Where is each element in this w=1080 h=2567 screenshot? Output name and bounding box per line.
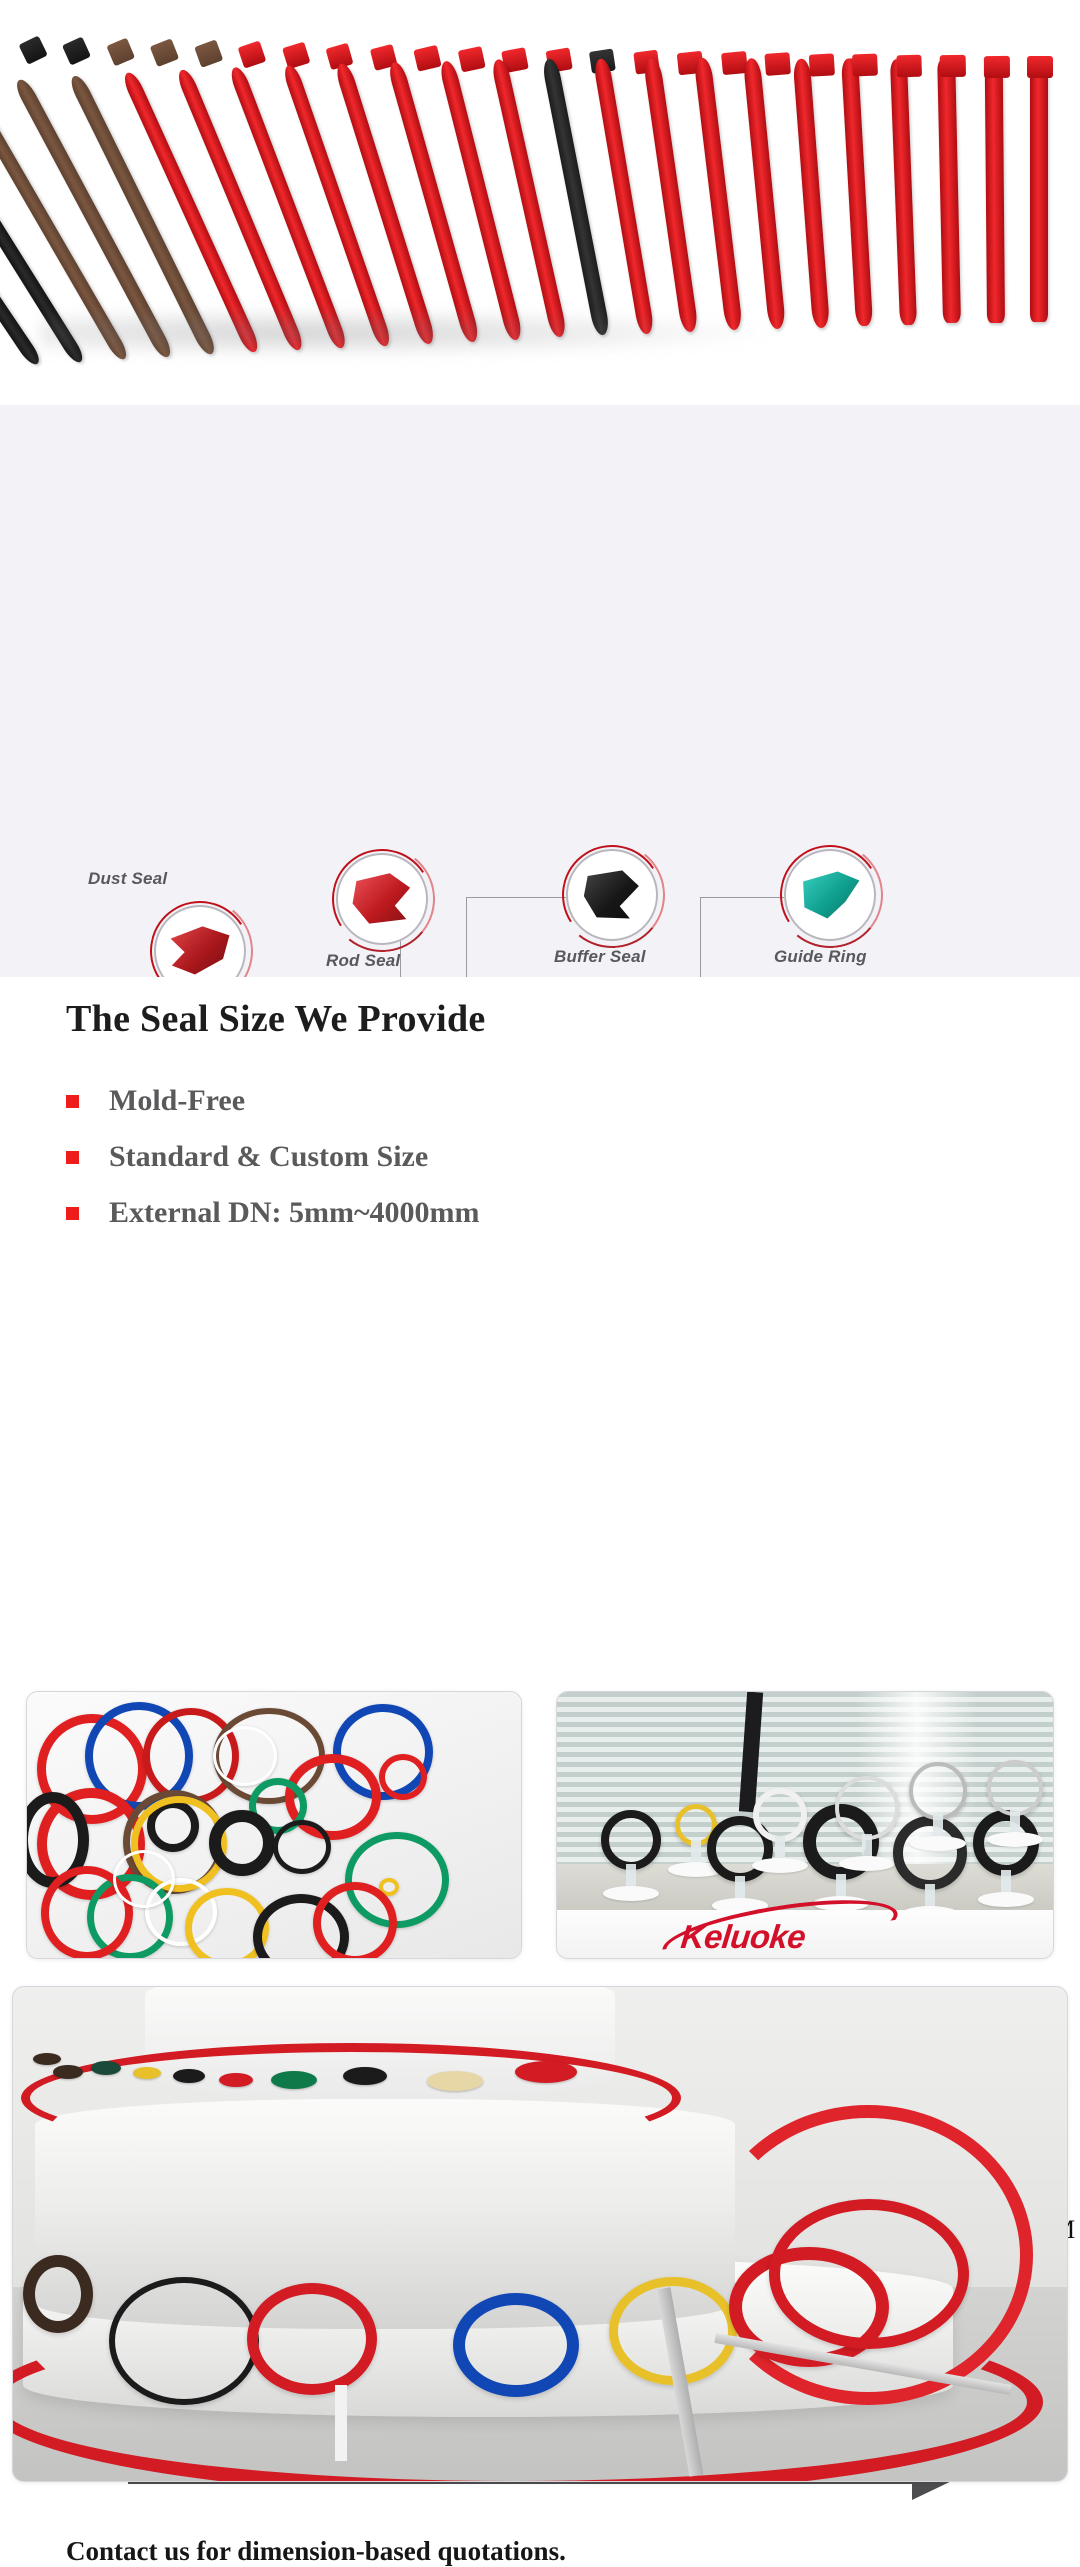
seal-ring-small <box>133 2067 161 2079</box>
feature-bullet-list: Mold-Free Standard & Custom Size Externa… <box>66 1073 586 1241</box>
seal-ring-small <box>91 2061 121 2075</box>
callout-label-buffer-seal: Buffer Seal <box>554 947 646 967</box>
seal-ring <box>769 2199 969 2349</box>
seal-profile-lip <box>457 46 485 72</box>
bullet-square-icon <box>66 1151 79 1164</box>
leader-line <box>466 897 467 977</box>
hydraulic-cylinder-cutaway: Dust Seal Rod Seal Buffer Seal Guide Rin… <box>0 405 1080 977</box>
seal-profile-lip <box>765 52 792 76</box>
seal-ring <box>109 2277 259 2405</box>
seal-profile-lip <box>721 51 748 75</box>
seal-profile <box>0 91 43 367</box>
callout-label-guide-ring: Guide Ring <box>774 947 867 967</box>
callout-dust-seal[interactable]: Dust Seal <box>154 905 246 977</box>
seal-profile <box>334 62 437 346</box>
seal-ring-display <box>893 1816 967 1890</box>
seal-profile-lip <box>1027 56 1053 78</box>
callout-rod-seal[interactable]: Rod Seal <box>336 853 428 945</box>
seal-profile-lip <box>896 54 922 77</box>
callout-buffer-seal[interactable]: Buffer Seal <box>566 849 658 941</box>
seal-ring-small <box>343 2067 387 2085</box>
oring <box>313 1882 397 1959</box>
seal-profile <box>281 63 393 347</box>
seal-profile <box>889 59 917 325</box>
list-item: External DN: 5mm~4000mm <box>66 1185 586 1241</box>
seal-profile <box>386 60 480 343</box>
seal-profile-lip <box>808 53 834 76</box>
seal-profile <box>792 58 829 328</box>
seal-profile <box>841 58 873 326</box>
oring <box>209 1810 275 1876</box>
seal-profile-lip <box>414 45 442 72</box>
bullet-text: Mold-Free <box>109 1084 245 1118</box>
oring <box>273 1820 331 1874</box>
bullet-text: Standard & Custom Size <box>109 1140 428 1174</box>
seal-profile <box>937 59 960 323</box>
brand-logo: Keluoke <box>679 1918 807 1956</box>
seal-ring-small <box>173 2069 205 2083</box>
seal-profile-lip <box>852 54 878 77</box>
callout-guide-ring[interactable]: Guide Ring <box>784 849 876 941</box>
seal-profile-lip <box>194 40 223 68</box>
page-title: The Seal Size We Provide <box>66 997 486 1041</box>
seal-ring-small <box>53 2065 83 2079</box>
stand-base <box>839 1856 895 1871</box>
callout-label-dust-seal: Dust Seal <box>88 869 167 889</box>
leader-line <box>700 897 701 977</box>
seal-ring <box>247 2283 377 2395</box>
large-red-seal-ring <box>21 2043 681 2153</box>
factory-display-stand-photo[interactable] <box>12 1986 1068 2482</box>
callout-arc <box>554 837 670 953</box>
oring <box>379 1754 427 1800</box>
seal-ring <box>453 2293 579 2397</box>
seal-ring-display <box>753 1788 807 1842</box>
seal-profile <box>984 60 1004 323</box>
seal-profile-lip <box>238 41 267 69</box>
callout-arc <box>324 841 440 957</box>
showroom-display-photo[interactable]: Keluoke <box>556 1691 1054 1959</box>
stand-base <box>603 1886 659 1901</box>
oring <box>213 1726 277 1786</box>
seal-profile-lip <box>62 36 91 65</box>
seal-ring-small <box>219 2073 253 2087</box>
seal-profile-lip <box>983 56 1009 78</box>
photo-card-row: Keluoke <box>0 1677 1080 1977</box>
list-item: Standard & Custom Size <box>66 1129 586 1185</box>
oring <box>113 1850 175 1908</box>
seal-profile <box>693 57 742 331</box>
callout-arc <box>142 893 258 977</box>
footer-note: Contact us for dimension-based quotation… <box>66 2536 566 2567</box>
seal-ring-display <box>987 1760 1043 1816</box>
seal-profile-lip <box>940 55 966 77</box>
stand-base <box>987 1832 1043 1847</box>
stand-base <box>752 1858 808 1873</box>
seal-ring-small <box>271 2071 317 2089</box>
seal-ring <box>23 2255 93 2333</box>
callout-arc <box>772 837 888 953</box>
seal-ring-display <box>835 1776 899 1840</box>
bullet-square-icon <box>66 1207 79 1220</box>
rack-post <box>335 2385 347 2461</box>
seal-profile-lip <box>18 35 47 64</box>
seal-ring-small <box>33 2053 61 2065</box>
list-item: Mold-Free <box>66 1073 586 1129</box>
callout-label-rod-seal: Rod Seal <box>326 951 400 971</box>
seal-profile <box>1030 60 1048 322</box>
stand-base <box>978 1892 1034 1907</box>
oring-assortment-photo[interactable] <box>26 1691 522 1959</box>
seal-profile-lip <box>150 38 179 67</box>
bullet-text: External DN: 5mm~4000mm <box>109 1196 480 1230</box>
seal-profile-lip <box>106 37 135 66</box>
bullet-square-icon <box>66 1095 79 1108</box>
seal-ring-small <box>515 2061 577 2083</box>
seal-size-section: The Seal Size We Provide Mold-Free Stand… <box>0 977 1080 1677</box>
hero-banner <box>0 0 1080 405</box>
seal-ring-small <box>427 2071 483 2091</box>
seal-profile <box>643 57 699 333</box>
seal-ring-display <box>909 1762 967 1820</box>
seal-ring-display <box>601 1810 661 1870</box>
stand-base <box>910 1836 966 1851</box>
seal-profile <box>743 58 786 330</box>
banner-shadow <box>40 307 800 359</box>
